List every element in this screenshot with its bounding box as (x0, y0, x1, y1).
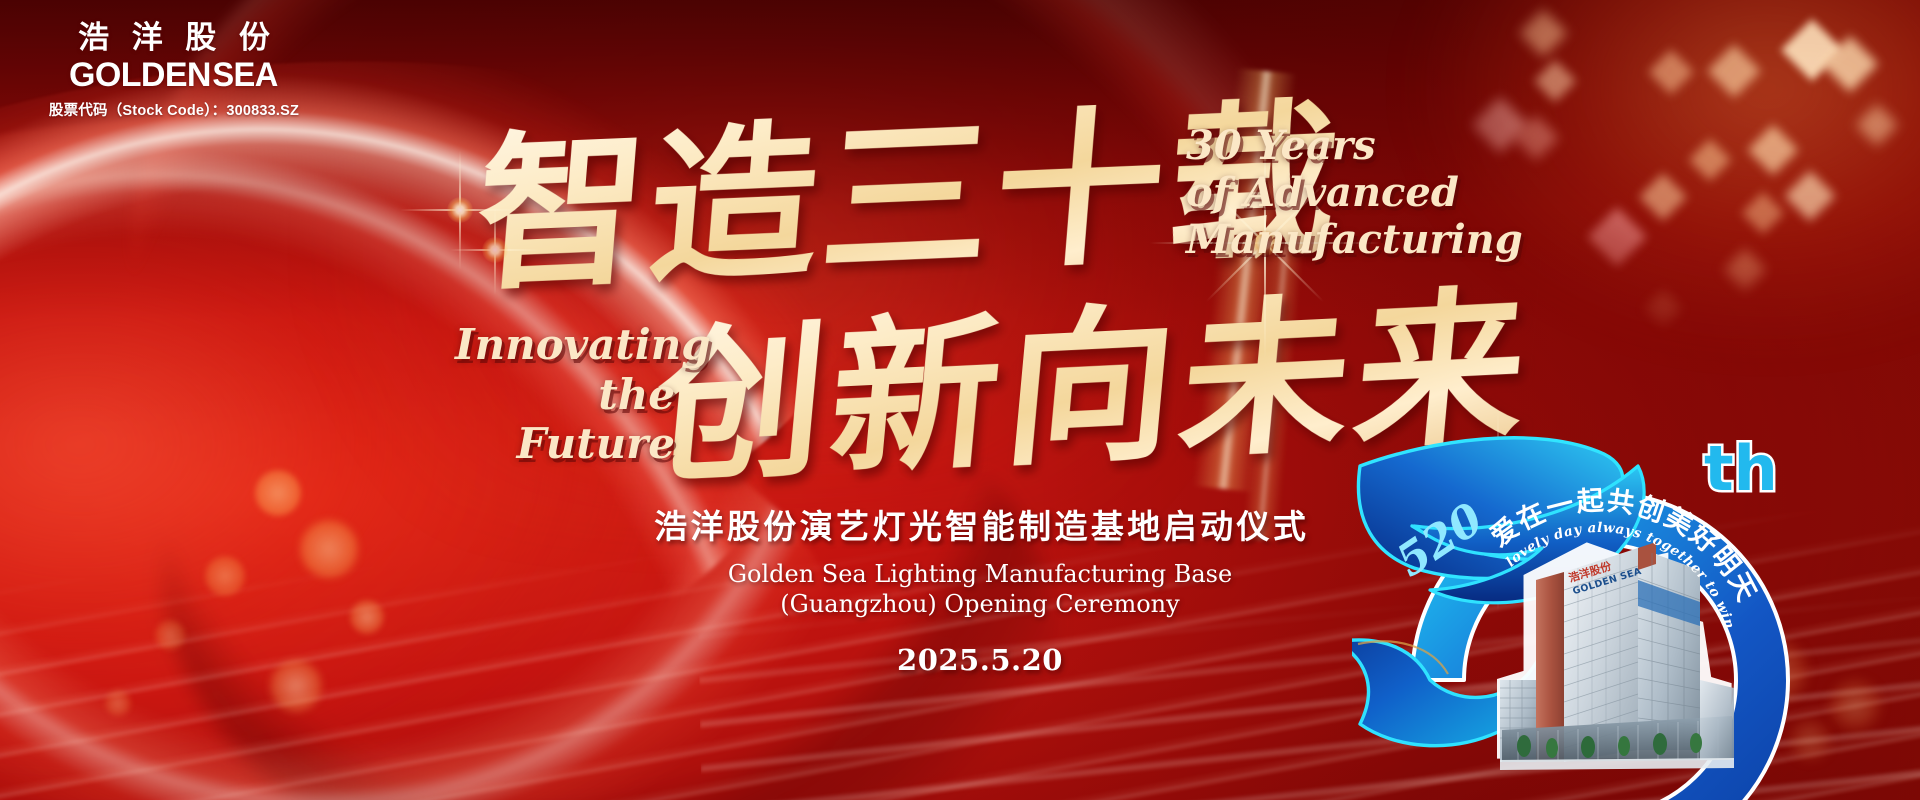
tagline-right-line-1: 30 Years (1186, 122, 1523, 169)
anniversary-emblem[interactable]: 浩洋股份 GOLDEN SEA (1352, 430, 1920, 800)
event-title-chinese: 浩洋股份演艺灯光智能制造基地启动仪式 (560, 500, 1400, 548)
anniversary-suffix-th: th (1704, 432, 1778, 505)
event-title-english: Golden Sea Lighting Manufacturing Base (… (560, 559, 1400, 619)
event-title-english-line-2: (Guangzhou) Opening Ceremony (560, 589, 1400, 619)
tagline-left-line-1: Innovating (455, 320, 675, 370)
tagline-right: 30 Years of Advanced Manufacturing (1186, 122, 1523, 264)
banner-canvas: 浩 洋 股 份 GOLDENSEA 股票代码（Stock Code）：30083… (0, 0, 1920, 800)
tagline-left: Innovating the Future (455, 320, 675, 469)
logo-chinese-name: 浩 洋 股 份 (44, 22, 304, 55)
event-title-english-line-1: Golden Sea Lighting Manufacturing Base (560, 559, 1400, 589)
logo-en-golden: GOLDEN (69, 56, 211, 94)
company-logo[interactable]: 浩 洋 股 份 GOLDENSEA 股票代码（Stock Code）：30083… (44, 22, 304, 120)
tagline-left-line-2: the Future (455, 370, 675, 469)
logo-en-sea: SEA (212, 57, 277, 93)
event-date: 2025.5.20 (560, 643, 1400, 677)
stock-code-line: 股票代码（Stock Code）：300833.SZ (44, 99, 304, 120)
tagline-right-line-3: Manufacturing (1186, 216, 1523, 263)
event-info-block: 浩洋股份演艺灯光智能制造基地启动仪式 Golden Sea Lighting M… (560, 500, 1400, 677)
logo-english-name: GOLDENSEA (44, 57, 304, 93)
tagline-right-line-2: of Advanced (1186, 169, 1523, 216)
